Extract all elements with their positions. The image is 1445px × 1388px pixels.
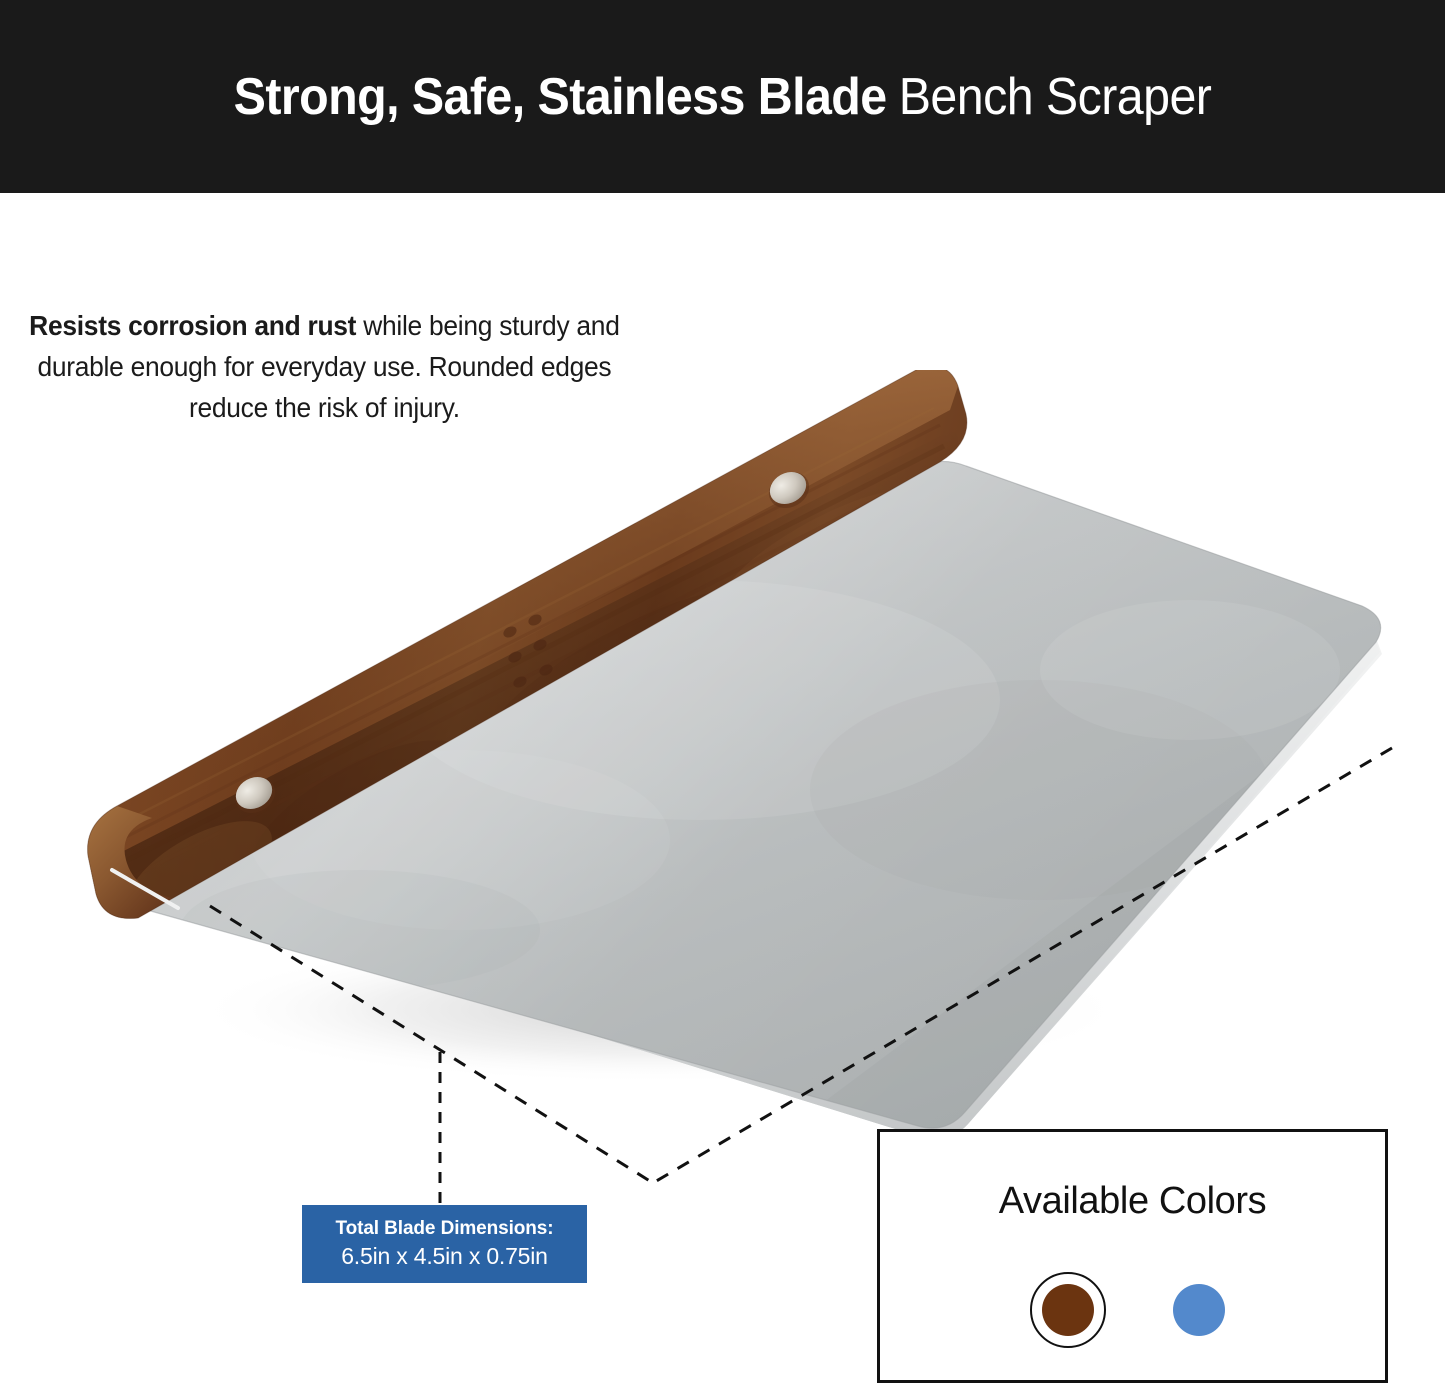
bench-scraper-illustration [60,370,1400,1170]
available-colors-title: Available Colors [880,1180,1385,1223]
color-swatch-blue-dot [1173,1284,1225,1336]
color-swatch-brown[interactable] [1030,1272,1106,1348]
dimension-callout: Total Blade Dimensions: 6.5in x 4.5in x … [302,1205,587,1283]
color-swatch-blue[interactable] [1163,1274,1235,1346]
color-swatch-row [880,1272,1385,1348]
title-light-part: Bench Scraper [899,67,1212,127]
available-colors-panel: Available Colors [877,1129,1388,1383]
dimension-value: 6.5in x 4.5in x 0.75in [341,1241,548,1271]
color-swatch-brown-dot [1042,1284,1094,1336]
dimension-label: Total Blade Dimensions: [336,1216,554,1241]
product-image [60,370,1400,1170]
title-bold-part: Strong, Safe, Stainless Blade [234,67,887,127]
header-bar: Strong, Safe, Stainless Blade Bench Scra… [0,0,1445,193]
product-infographic: Strong, Safe, Stainless Blade Bench Scra… [0,0,1445,1388]
page-title: Strong, Safe, Stainless Blade Bench Scra… [51,0,1395,193]
description-bold-lead: Resists corrosion and rust [29,310,356,341]
